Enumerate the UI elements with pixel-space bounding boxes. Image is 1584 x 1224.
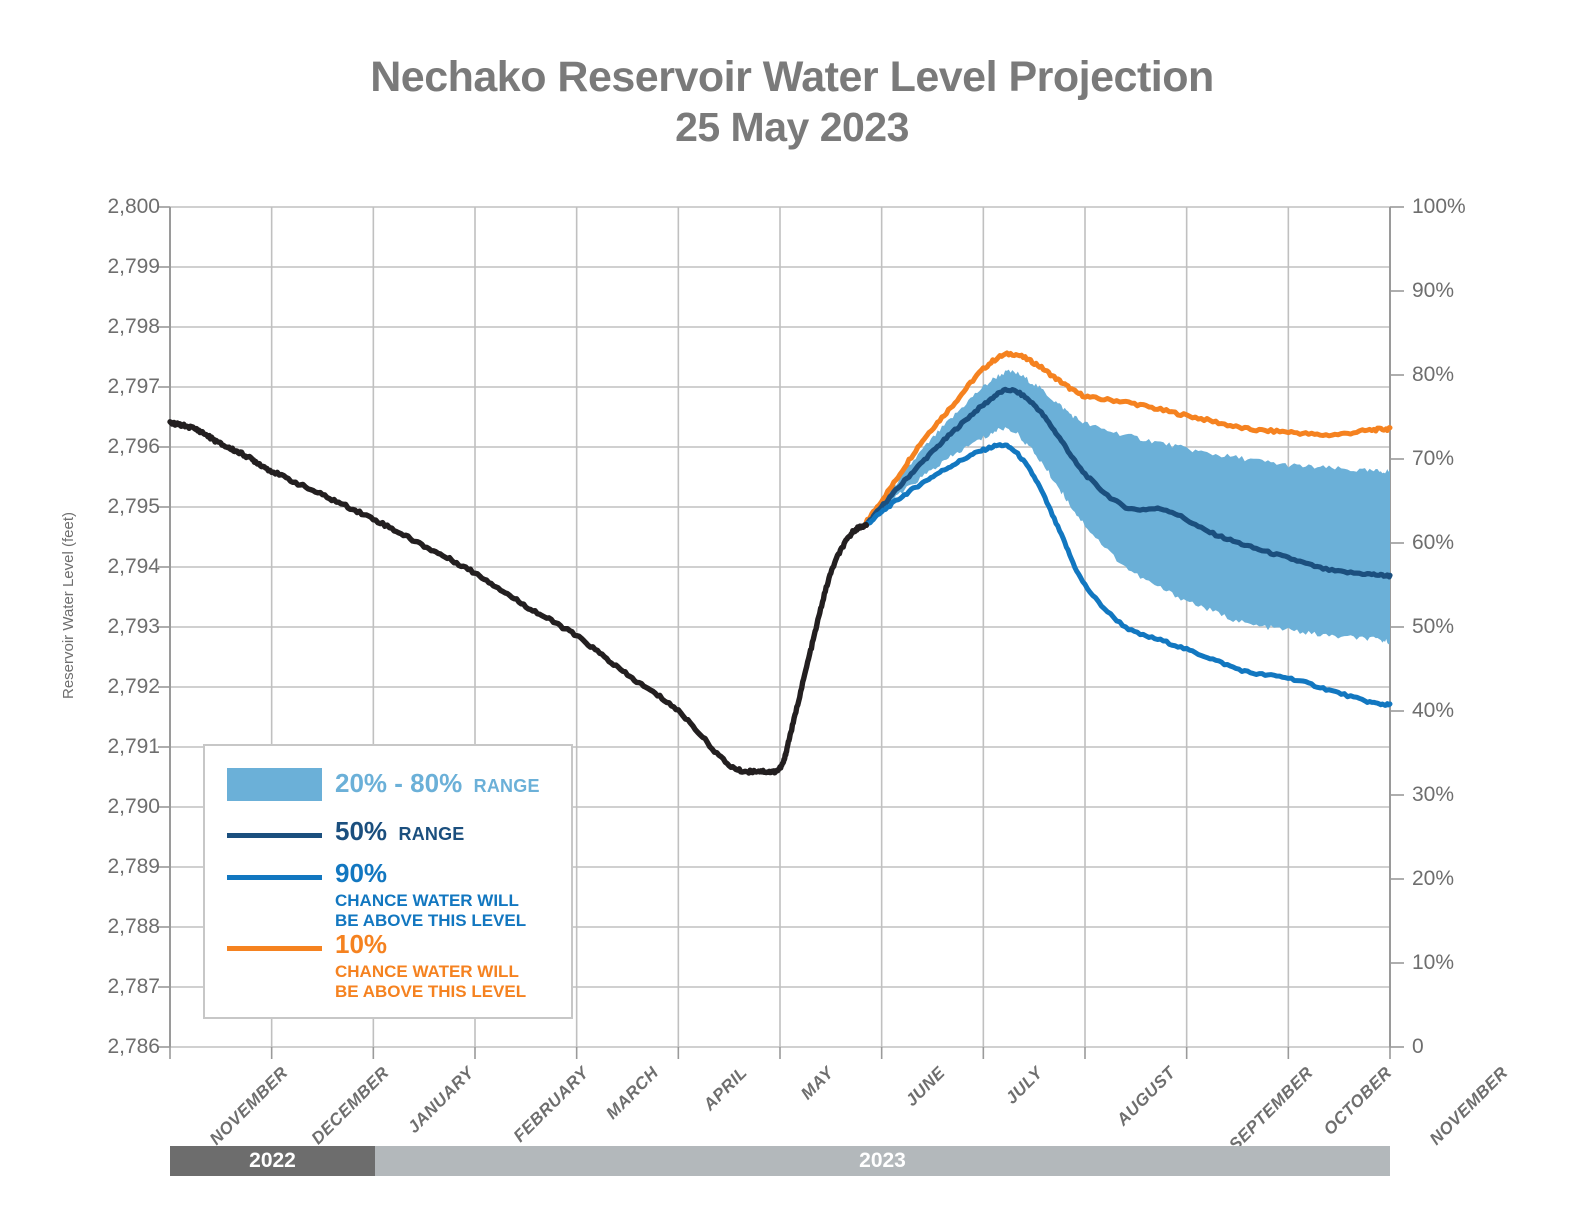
chart-page: Nechako Reservoir Water Level Projection… [0,0,1584,1224]
y-axis-right-tick: 70% [1412,447,1522,471]
y-axis-left-tick: 2,792 [50,675,160,699]
y-axis-left-tick: 2,796 [50,435,160,459]
legend-label-chance-90-description: CHANCE WATER WILLBE ABOVE THIS LEVEL [335,891,526,931]
plot-area [0,0,1584,1224]
legend-label-chance-10-value: 10% [335,929,387,959]
y-axis-left-tick: 2,795 [50,495,160,519]
y-axis-right-tick: 50% [1412,615,1522,639]
legend-swatch-p90 [227,875,322,880]
legend-label-range-50-unit: RANGE [399,824,465,844]
chart-legend: 20% - 80% RANGE 50% RANGE 90% CHANCE WAT… [203,744,573,1019]
legend-swatch-median [227,833,322,838]
legend-label-range-20-80-value: 20% - 80% [335,768,462,798]
y-axis-right-tick: 20% [1412,867,1522,891]
y-axis-right-tick: 10% [1412,951,1522,975]
y-axis-right-tick: 30% [1412,783,1522,807]
y-axis-left-tick: 2,798 [50,315,160,339]
y-axis-right-tick: 40% [1412,699,1522,723]
y-axis-left-tick: 2,787 [50,975,160,999]
y-axis-left-tick: 2,797 [50,375,160,399]
legend-swatch-band [227,768,322,801]
y-axis-left-tick: 2,786 [50,1035,160,1059]
y-axis-right-tick: 60% [1412,531,1522,555]
y-axis-left-tick: 2,793 [50,615,160,639]
legend-description-line: BE ABOVE THIS LEVEL [335,982,526,1002]
legend-swatch-p10 [227,946,322,951]
y-axis-right-tick: 100% [1412,195,1522,219]
y-axis-left-tick: 2,789 [50,855,160,879]
y-axis-right-tick: 90% [1412,279,1522,303]
legend-description-line: CHANCE WATER WILL [335,962,526,982]
year-band-2023: 2023 [375,1146,1390,1176]
legend-label-chance-10-description: CHANCE WATER WILLBE ABOVE THIS LEVEL [335,962,526,1002]
reservoir-projection-plot [0,0,1584,1224]
y-axis-right-tick: 0 [1412,1035,1522,1059]
legend-description-line: CHANCE WATER WILL [335,891,526,911]
y-axis-left-tick: 2,788 [50,915,160,939]
year-band-2022: 2022 [170,1146,375,1176]
y-axis-left-tick: 2,800 [50,195,160,219]
y-axis-left-tick: 2,790 [50,795,160,819]
legend-label-chance-90-value: 90% [335,858,387,888]
y-axis-left-tick: 2,794 [50,555,160,579]
y-axis-left-tick: 2,799 [50,255,160,279]
legend-label-range-20-80-unit: RANGE [474,776,540,796]
legend-label-range-50-value: 50% [335,816,387,846]
line-historical-observed [170,422,866,773]
y-axis-left-tick: 2,791 [50,735,160,759]
y-axis-right-tick: 80% [1412,363,1522,387]
